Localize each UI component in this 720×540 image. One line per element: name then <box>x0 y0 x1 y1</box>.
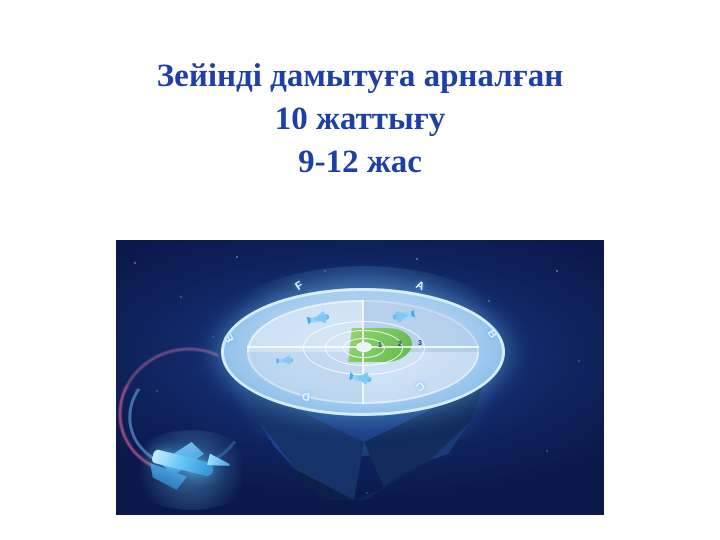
radar-number-2: 2 <box>398 341 402 348</box>
space-scene: 1 2 3 A B C D E <box>116 240 604 515</box>
foreground-jet <box>124 426 244 496</box>
slide: Зейінді дамытуға арналған 10 жаттығу 9-1… <box>0 0 720 540</box>
radar-letter-D: D <box>301 390 311 403</box>
title-line-1: Зейінді дамытуға арналған <box>0 55 720 98</box>
aircraft-marker-4 <box>275 355 297 368</box>
radar-number-3: 3 <box>418 340 422 347</box>
radar-number-1: 1 <box>378 342 382 349</box>
title-line-2: 10 жаттығу <box>0 98 720 141</box>
radar-hub <box>356 342 372 352</box>
illustration-image: 1 2 3 A B C D E <box>116 240 604 515</box>
page-title: Зейінді дамытуға арналған 10 жаттығу 9-1… <box>0 55 720 184</box>
title-line-3: 9-12 жас <box>0 141 720 184</box>
